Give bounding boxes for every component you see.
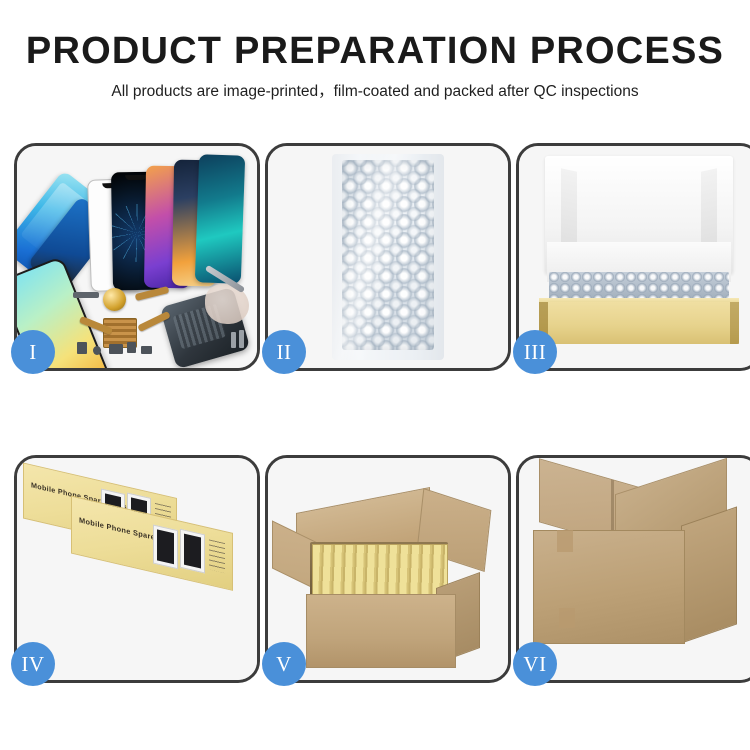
packed-retail-boxes xyxy=(312,544,448,600)
step-panel-3[interactable]: III xyxy=(516,143,750,371)
step-panel-2[interactable]: II xyxy=(265,143,511,371)
small-component-part xyxy=(109,344,123,354)
small-component-part xyxy=(77,342,87,354)
header: PRODUCT PREPARATION PROCESS All products… xyxy=(0,0,750,100)
retail-box-stack: Mobile Phone Spare Parts Mobile Phone Sp… xyxy=(23,474,249,664)
step-panel-5[interactable]: V xyxy=(265,455,511,683)
step-badge-5: V xyxy=(262,642,306,686)
page-subtitle: All products are image-printed，film-coat… xyxy=(0,70,750,100)
step-panel-1[interactable]: I xyxy=(14,143,260,371)
battery-connector-part xyxy=(73,292,99,298)
carton-tape-bottom xyxy=(559,608,575,628)
step-badge-3: III xyxy=(513,330,557,374)
step-badge-6: VI xyxy=(513,642,557,686)
mailer-box-front xyxy=(539,302,739,344)
speaker-part xyxy=(103,288,126,311)
step-1-image xyxy=(17,146,257,368)
phone-teal-gradient xyxy=(195,154,245,284)
step-6-image xyxy=(519,458,750,680)
page-title: PRODUCT PREPARATION PROCESS xyxy=(0,0,750,70)
small-component-part xyxy=(127,342,136,353)
small-component-part xyxy=(141,346,152,354)
small-component-part xyxy=(93,346,101,355)
step-badge-1: I xyxy=(11,330,55,374)
step-4-image: Mobile Phone Spare Parts Mobile Phone Sp… xyxy=(17,458,257,680)
step-3-image xyxy=(519,146,750,368)
step-2-image xyxy=(268,146,508,368)
step-5-image xyxy=(268,458,508,680)
screw-part xyxy=(239,330,244,348)
step-panel-6[interactable]: VI xyxy=(516,455,750,683)
carton-front-face xyxy=(533,530,685,644)
step-badge-2: II xyxy=(262,330,306,374)
step-badge-4: IV xyxy=(11,642,55,686)
screw-part xyxy=(231,332,236,348)
product-preparation-infographic: PRODUCT PREPARATION PROCESS All products… xyxy=(0,0,750,750)
carton-right-face xyxy=(681,506,737,643)
carton-front-face xyxy=(306,594,456,668)
step-panel-4[interactable]: Mobile Phone Spare Parts Mobile Phone Sp… xyxy=(14,455,260,683)
carton-tape-top xyxy=(557,530,573,552)
bubble-wrap-bubbles xyxy=(342,160,434,350)
phone-notch-icon xyxy=(125,175,147,180)
steps-grid: I II III xyxy=(14,143,736,723)
